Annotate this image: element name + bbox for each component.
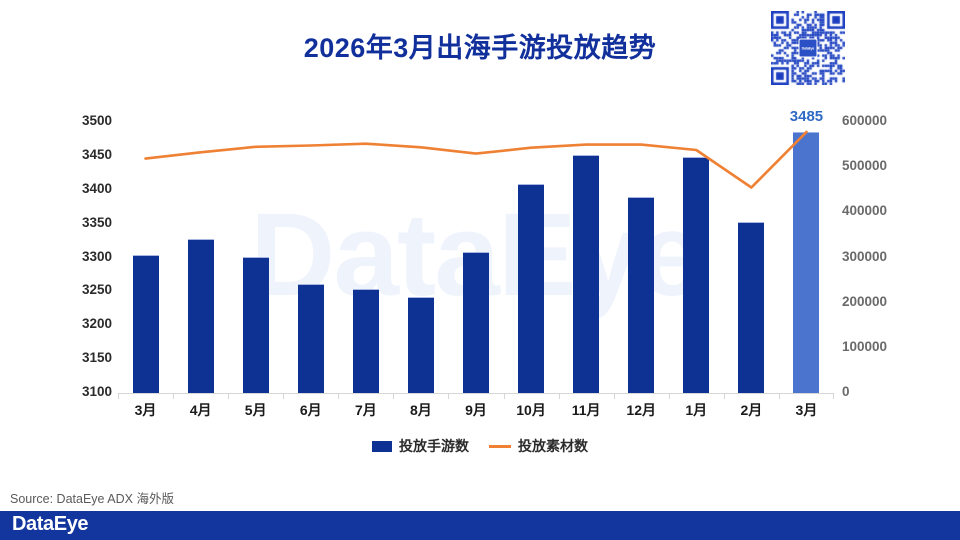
left-axis-tick: 3450 (82, 147, 112, 162)
right-axis-tick: 400000 (842, 203, 887, 218)
legend-item[interactable]: 投放手游数 (372, 436, 469, 456)
left-axis-tick: 3500 (82, 113, 112, 128)
x-axis-tick (283, 393, 284, 399)
left-axis-tick: 3350 (82, 215, 112, 230)
x-axis-tick (448, 393, 449, 399)
x-axis-tick (779, 393, 780, 399)
right-axis-tick: 500000 (842, 158, 887, 173)
legend-label: 投放手游数 (399, 436, 469, 456)
x-axis-label: 4月 (190, 400, 212, 420)
qr-code[interactable]: DataEye (766, 6, 850, 90)
x-axis-labels: 3月4月5月6月7月8月9月10月11月12月1月2月3月 (118, 400, 834, 424)
right-axis-tick: 100000 (842, 339, 887, 354)
x-axis-tick (669, 393, 670, 399)
x-axis-label: 5月 (245, 400, 267, 420)
line-layer (118, 122, 834, 394)
right-axis-tick: 300000 (842, 249, 887, 264)
chart-page: 2026年3月出海手游投放趋势 DataEye 3500345034003350… (0, 0, 960, 540)
qr-center-logo: DataEye (799, 39, 818, 58)
right-axis-tick: 0 (842, 384, 850, 399)
left-axis-tick: 3250 (82, 282, 112, 297)
x-axis-tick (118, 393, 119, 399)
left-axis-tick: 3100 (82, 384, 112, 399)
x-axis-tick (338, 393, 339, 399)
x-axis-line (118, 393, 834, 394)
legend-line-swatch-icon (489, 445, 511, 448)
x-axis-tick (833, 393, 834, 399)
legend-bar-swatch-icon (372, 441, 392, 452)
x-axis-label: 3月 (135, 400, 157, 420)
x-axis-label: 8月 (410, 400, 432, 420)
x-axis-label: 10月 (516, 400, 546, 420)
footer-logo: DataEye (12, 513, 88, 536)
x-axis-label: 3月 (796, 400, 818, 420)
x-axis-label: 6月 (300, 400, 322, 420)
x-axis-label: 2月 (740, 400, 762, 420)
x-axis-tick (173, 393, 174, 399)
x-axis-label: 12月 (626, 400, 656, 420)
left-axis-tick: 3300 (82, 249, 112, 264)
x-axis-tick (228, 393, 229, 399)
legend-label: 投放素材数 (518, 436, 588, 456)
plot-area: DataEye 3485 (118, 122, 834, 394)
source-text: Source: DataEye ADX 海外版 (10, 488, 174, 507)
left-axis: 350034503400335033003250320031503100 (58, 122, 112, 394)
right-axis: 6000005000004000003000002000001000000 (842, 122, 922, 394)
legend-item[interactable]: 投放素材数 (489, 436, 588, 456)
left-axis-tick: 3150 (82, 350, 112, 365)
right-axis-tick: 200000 (842, 294, 887, 309)
legend: 投放手游数投放素材数 (0, 436, 960, 456)
x-axis-label: 1月 (685, 400, 707, 420)
x-axis-tick (393, 393, 394, 399)
left-axis-tick: 3200 (82, 316, 112, 331)
left-axis-tick: 3400 (82, 181, 112, 196)
x-axis-tick (559, 393, 560, 399)
x-axis-tick (724, 393, 725, 399)
footer-bar (0, 511, 960, 540)
line-series-svg (118, 122, 834, 394)
x-axis-label: 7月 (355, 400, 377, 420)
x-axis-label: 11月 (572, 400, 601, 420)
line-series-path (146, 132, 807, 188)
right-axis-tick: 600000 (842, 113, 887, 128)
x-axis-tick (504, 393, 505, 399)
x-axis-label: 9月 (465, 400, 487, 420)
x-axis-tick (614, 393, 615, 399)
